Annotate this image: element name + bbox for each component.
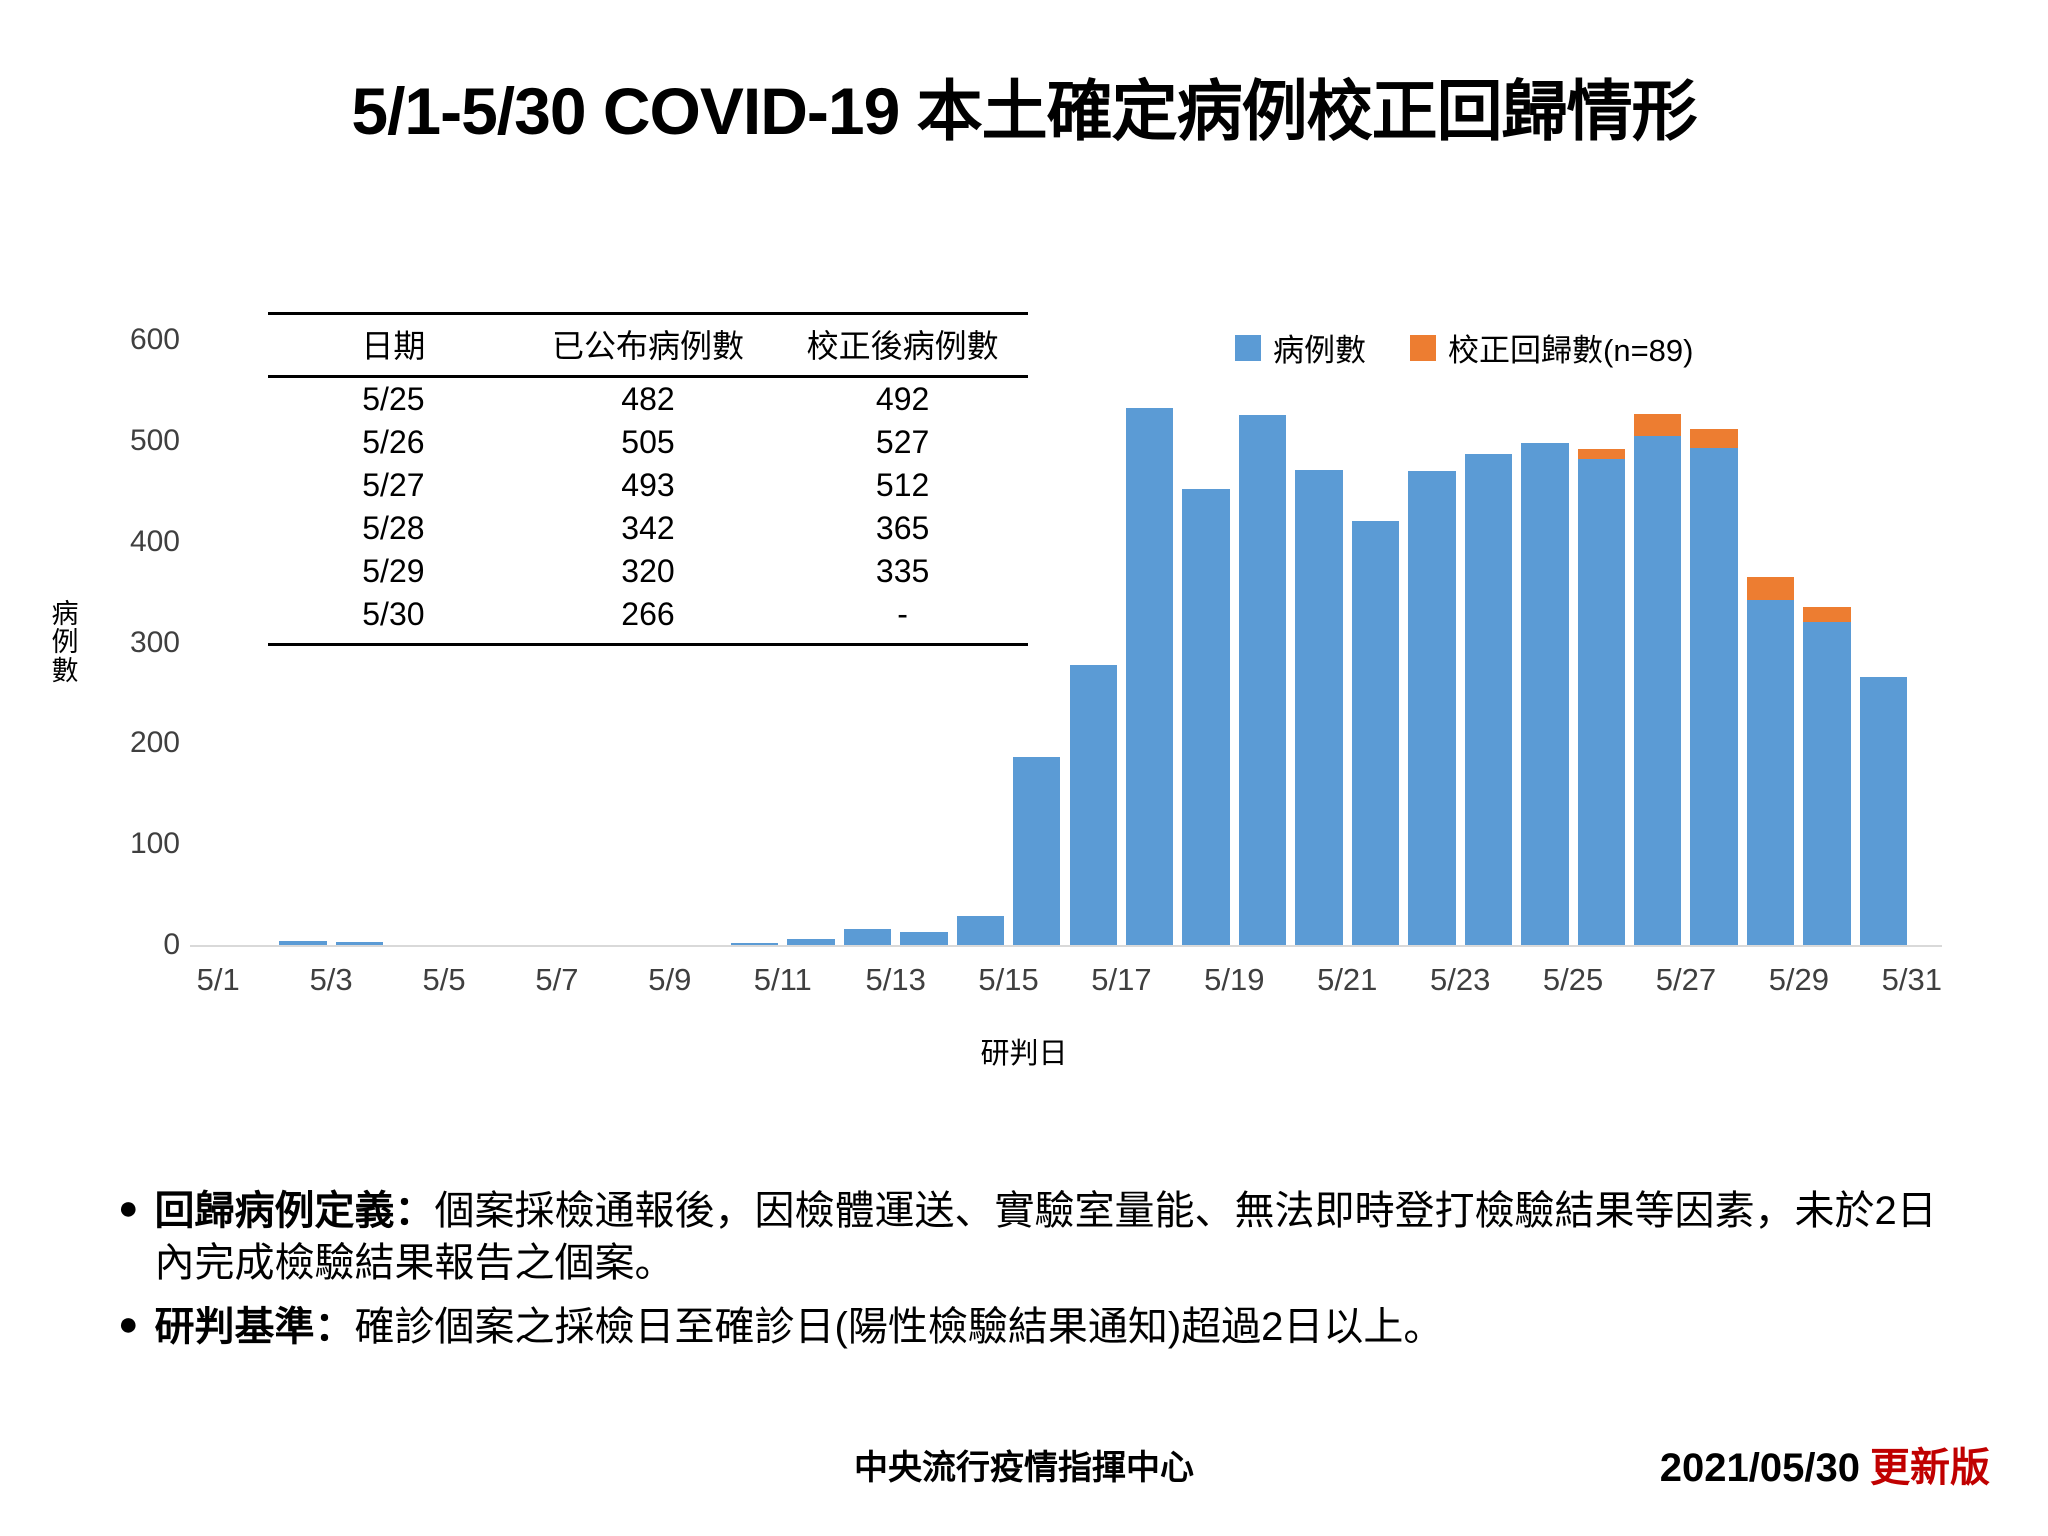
bar-5-16: [1070, 665, 1117, 945]
bar-segment-cases: [1070, 665, 1117, 945]
table-header-corrected: 校正後病例數: [777, 314, 1028, 377]
table-cell-published: 482: [519, 377, 777, 422]
table-cell-corrected: 527: [777, 421, 1028, 464]
bullet-text-1: 回歸病例定義：個案採檢通報後，因檢體運送、實驗室量能、無法即時登打檢驗結果等因素…: [155, 1185, 1948, 1289]
table-cell-date: 5/25: [268, 377, 519, 422]
bar-5-18: [1182, 489, 1229, 945]
table-cell-date: 5/29: [268, 550, 519, 593]
bar-5-22: [1408, 471, 1455, 945]
slide-root: 5/1-5/30 COVID-19 本土確定病例校正回歸情形 病例數 01002…: [0, 0, 2048, 1536]
table-row: 5/28342365: [268, 507, 1028, 550]
bar-segment-cases: [1860, 677, 1907, 945]
table-cell-corrected: 512: [777, 464, 1028, 507]
y-tick-label: 200: [60, 726, 180, 760]
bar-segment-cases: [1126, 408, 1173, 945]
table-cell-published: 320: [519, 550, 777, 593]
legend-label-backlog: 校正回歸數(n=89): [1448, 325, 1693, 370]
bar-5-19: [1239, 415, 1286, 945]
bar-5-14: [957, 916, 1004, 945]
bar-5-26: [1634, 414, 1681, 945]
y-tick-label: 300: [60, 626, 180, 660]
bar-segment-correction: [1690, 429, 1737, 448]
x-tick-label: 5/9: [648, 962, 691, 998]
bar-segment-cases: [279, 941, 326, 945]
y-axis-ticks: 0100200300400500600: [30, 340, 180, 945]
y-tick-label: 600: [60, 323, 180, 357]
blue-square-icon: [1235, 335, 1261, 361]
bar-5-2: [279, 941, 326, 945]
bar-5-29: [1803, 607, 1850, 945]
table-row: 5/30266-: [268, 593, 1028, 645]
page-title: 5/1-5/30 COVID-19 本土確定病例校正回歸情形: [0, 58, 2048, 154]
table-cell-date: 5/27: [268, 464, 519, 507]
y-tick-label: 400: [60, 525, 180, 559]
bullet-rest-2: 確診個案之採檢日至確診日(陽性檢驗結果通知)超過2日以上。: [355, 1305, 1444, 1349]
list-item: ● 回歸病例定義：個案採檢通報後，因檢體運送、實驗室量能、無法即時登打檢驗結果等…: [118, 1185, 1948, 1289]
table-header-published: 已公布病例數: [519, 314, 777, 377]
x-axis-line: [190, 945, 1942, 947]
x-tick-label: 5/17: [1091, 962, 1151, 998]
bullet-text-2: 研判基準：確診個案之採檢日至確診日(陽性檢驗結果通知)超過2日以上。: [155, 1301, 1444, 1353]
bullet-dot-icon: ●: [118, 1301, 139, 1347]
x-tick-label: 5/29: [1769, 962, 1829, 998]
bullet-lead-1: 回歸病例定義：: [155, 1189, 435, 1233]
table-body: 5/254824925/265055275/274935125/28342365…: [268, 377, 1028, 645]
bar-5-21: [1352, 521, 1399, 946]
y-tick-label: 100: [60, 827, 180, 861]
table-row: 5/25482492: [268, 377, 1028, 422]
bar-5-28: [1747, 577, 1794, 945]
bar-5-11: [787, 939, 834, 945]
table-row: 5/27493512: [268, 464, 1028, 507]
orange-square-icon: [1410, 335, 1436, 361]
bar-segment-cases: [900, 932, 947, 945]
bar-segment-cases: [1690, 448, 1737, 945]
list-item: ● 研判基準：確診個案之採檢日至確診日(陽性檢驗結果通知)超過2日以上。: [118, 1301, 1948, 1353]
footer-date-value: 2021/05/30: [1660, 1446, 1860, 1490]
bar-segment-cases: [1182, 489, 1229, 945]
bar-5-10: [731, 943, 778, 945]
notes-list: ● 回歸病例定義：個案採檢通報後，因檢體運送、實驗室量能、無法即時登打檢驗結果等…: [118, 1185, 1948, 1365]
x-tick-label: 5/11: [754, 962, 812, 998]
table-cell-corrected: -: [777, 593, 1028, 645]
bar-segment-correction: [1578, 449, 1625, 459]
bar-5-12: [844, 929, 891, 945]
x-tick-label: 5/25: [1543, 962, 1603, 998]
table-cell-date: 5/26: [268, 421, 519, 464]
bar-5-27: [1690, 429, 1737, 945]
x-tick-label: 5/21: [1317, 962, 1377, 998]
correction-data-table: 日期 已公布病例數 校正後病例數 5/254824925/265055275/2…: [268, 312, 1028, 646]
bar-segment-cases: [1803, 622, 1850, 945]
bar-5-17: [1126, 408, 1173, 945]
table-cell-corrected: 492: [777, 377, 1028, 422]
bar-segment-correction: [1747, 577, 1794, 600]
x-tick-label: 5/13: [865, 962, 925, 998]
bar-5-25: [1578, 449, 1625, 945]
bar-segment-cases: [1521, 443, 1568, 945]
x-tick-label: 5/1: [197, 962, 240, 998]
table-cell-date: 5/28: [268, 507, 519, 550]
bar-5-15: [1013, 757, 1060, 945]
table-cell-corrected: 365: [777, 507, 1028, 550]
table-cell-published: 342: [519, 507, 777, 550]
bar-segment-cases: [1239, 415, 1286, 945]
bar-segment-cases: [1408, 471, 1455, 945]
y-tick-label: 0: [60, 928, 180, 962]
bar-segment-cases: [1295, 470, 1342, 945]
bar-5-30: [1860, 677, 1907, 945]
table-row: 5/29320335: [268, 550, 1028, 593]
footer-date: 2021/05/30更新版: [1660, 1435, 1990, 1493]
footer-update-tag: 更新版: [1870, 1446, 1990, 1490]
bar-segment-correction: [1803, 607, 1850, 622]
x-tick-label: 5/23: [1430, 962, 1490, 998]
bar-segment-cases: [1465, 454, 1512, 945]
x-tick-label: 5/3: [310, 962, 353, 998]
bar-segment-cases: [1352, 521, 1399, 946]
table-cell-date: 5/30: [268, 593, 519, 645]
bar-segment-cases: [731, 943, 778, 945]
legend-item-backlog: 校正回歸數(n=89): [1410, 325, 1693, 370]
bar-5-3: [336, 942, 383, 945]
y-tick-label: 500: [60, 424, 180, 458]
bar-segment-cases: [957, 916, 1004, 945]
table-row: 5/26505527: [268, 421, 1028, 464]
bar-segment-cases: [336, 942, 383, 945]
table-header-date: 日期: [268, 314, 519, 377]
bar-5-24: [1521, 443, 1568, 945]
table-cell-published: 505: [519, 421, 777, 464]
table-cell-published: 266: [519, 593, 777, 645]
x-tick-label: 5/27: [1656, 962, 1716, 998]
x-axis-ticks: 5/15/35/55/75/95/115/135/155/175/195/215…: [190, 962, 1942, 1018]
bar-5-23: [1465, 454, 1512, 945]
bar-segment-cases: [1013, 757, 1060, 945]
bar-segment-cases: [844, 929, 891, 945]
x-tick-label: 5/5: [422, 962, 465, 998]
x-tick-label: 5/31: [1882, 962, 1942, 998]
bar-5-20: [1295, 470, 1342, 945]
x-tick-label: 5/19: [1204, 962, 1264, 998]
bar-segment-cases: [787, 939, 834, 945]
legend-item-cases: 病例數: [1235, 325, 1366, 370]
legend-label-cases: 病例數: [1273, 325, 1366, 370]
x-tick-label: 5/15: [978, 962, 1038, 998]
bar-segment-cases: [1747, 600, 1794, 945]
x-axis-title: 研判日: [0, 1030, 2048, 1072]
table-header-row: 日期 已公布病例數 校正後病例數: [268, 314, 1028, 377]
bar-segment-cases: [1634, 436, 1681, 945]
bar-segment-cases: [1578, 459, 1625, 945]
chart-legend: 病例數 校正回歸數(n=89): [1235, 325, 1693, 370]
x-tick-label: 5/7: [535, 962, 578, 998]
table-cell-corrected: 335: [777, 550, 1028, 593]
bar-segment-correction: [1634, 414, 1681, 436]
bar-5-13: [900, 932, 947, 945]
bullet-lead-2: 研判基準：: [155, 1305, 355, 1349]
table-cell-published: 493: [519, 464, 777, 507]
bullet-dot-icon: ●: [118, 1185, 139, 1231]
